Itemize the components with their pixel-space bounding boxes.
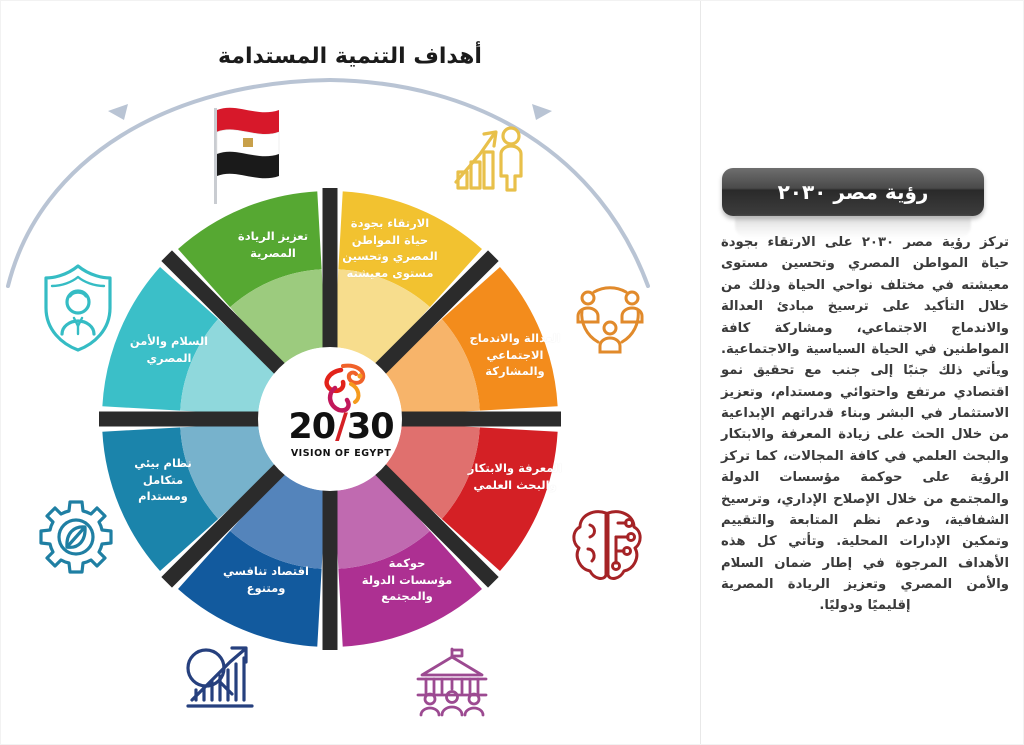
people-network-icon	[572, 282, 648, 358]
wheel-separator	[399, 412, 561, 427]
wheel-separator	[99, 412, 261, 427]
page-title: أهداف التنمية المستدامة	[190, 44, 510, 69]
person-growth-chart-icon	[450, 120, 528, 204]
magnifier-growth-chart-icon	[178, 638, 262, 718]
vision-2030-logo: 20/30 VISION OF EGYPT	[281, 366, 401, 484]
government-building-people-icon	[408, 645, 496, 717]
panel-body-text: تركز رؤية مصر ٢٠٣٠ على الارتقاء بجودة حي…	[721, 232, 1009, 617]
panel-heading-text: رؤية مصر ٢٠٣٠	[778, 180, 929, 204]
logo-number: 20/30	[281, 410, 401, 445]
wheel-separator	[323, 188, 338, 350]
brain-circuit-icon	[566, 505, 648, 587]
description-panel: رؤية مصر ٢٠٣٠ تركز رؤية مصر ٢٠٣٠ على الا…	[700, 0, 1024, 745]
gear-leaf-icon	[36, 497, 116, 577]
vision-swirl-icon	[313, 362, 371, 414]
infographic-page: أهداف التنمية المستدامة الارتقاء بجودة ح…	[0, 0, 1024, 745]
logo-subtitle: VISION OF EGYPT	[281, 448, 401, 459]
wheel-panel: أهداف التنمية المستدامة الارتقاء بجودة ح…	[0, 0, 700, 745]
shield-person-icon	[38, 260, 118, 356]
wheel-separator	[323, 488, 338, 650]
panel-heading-plate: رؤية مصر ٢٠٣٠	[722, 168, 984, 216]
